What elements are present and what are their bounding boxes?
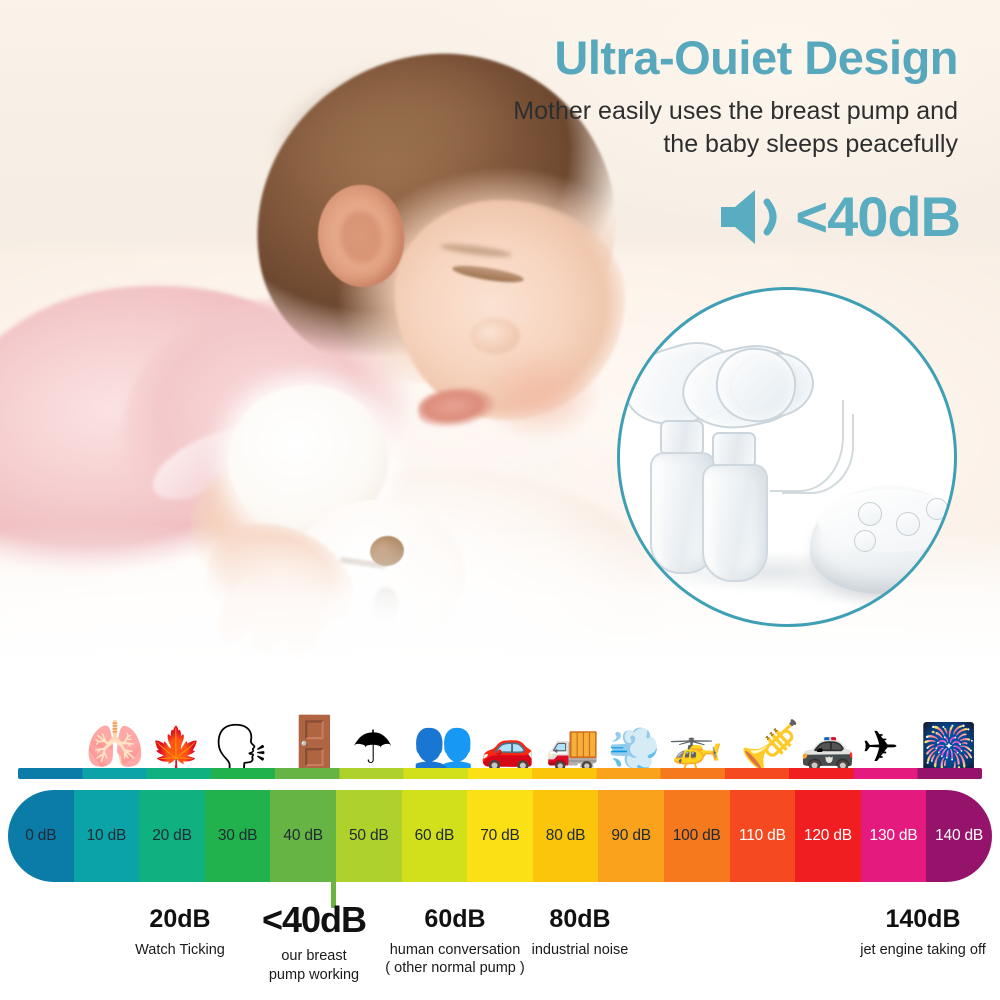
annotation-description: jet engine taking off [813, 941, 1000, 960]
trumpet-player-icon: 🎺 [740, 722, 800, 770]
baby-nose [470, 318, 520, 354]
page-subtitle: Mother easily uses the breast pump and t… [438, 95, 958, 161]
scale-segment: 20 dB [139, 790, 205, 882]
scale-segment: 30 dB [205, 790, 271, 882]
scale-segment: 50 dB [336, 790, 402, 882]
bottle-neck-right [712, 432, 756, 468]
car-icon: 🚗 [480, 726, 535, 770]
annotation-value: 140dB [813, 905, 1000, 934]
baby-cheek [480, 350, 600, 440]
jet-icon: ✈ [862, 726, 899, 770]
umbrella-rain-icon: ☂ [352, 724, 393, 770]
truck-icon: 🚚 [545, 726, 600, 770]
fireworks-icon: 🎆 [920, 724, 977, 770]
scale-annotation: 80dBindustrial noise [470, 905, 690, 959]
whispering-people-icon: 🗣 [212, 724, 270, 770]
scale-segment: 70 dB [467, 790, 533, 882]
noise-level-badge: <40dB [717, 186, 960, 248]
scale-segment: 80 dB [533, 790, 599, 882]
conversation-people-icon: 👥 [412, 720, 474, 770]
subtitle-line-1: Mother easily uses the breast pump and [438, 95, 958, 128]
scale-segment: 0 dB [8, 790, 74, 882]
hair-dryer-icon: 💨 [608, 728, 660, 770]
scale-annotation: 140dBjet engine taking off [813, 905, 1000, 959]
scale-annotations: 20dBWatch Ticking<40dBour breastpump wor… [0, 905, 1000, 1000]
noise-scale-bar: 0 dB10 dB20 dB30 dB40 dB50 dB60 dB70 dB8… [8, 790, 992, 882]
bottle-right [702, 464, 768, 582]
refrigerator-icon: 🚪 [282, 718, 347, 770]
speaker-icon [717, 186, 789, 248]
badge-value: <40dB [795, 189, 960, 245]
scale-segment: 90 dB [598, 790, 664, 882]
subtitle-line-2: the baby sleeps peacefully [438, 128, 958, 161]
scale-segment: 100 dB [664, 790, 730, 882]
scale-segment: 140 dB [926, 790, 992, 882]
page-title: Ultra-Ouiet Design [554, 34, 958, 81]
pump-motor-unit [810, 486, 957, 594]
scale-segment: 130 dB [861, 790, 927, 882]
helicopter-icon: 🚁 [668, 726, 723, 770]
product-inset [617, 287, 957, 627]
decrease-button[interactable] [854, 530, 876, 552]
mode-button[interactable] [896, 512, 920, 536]
noise-source-icons: 🫁 🍁 🗣 🚪 ☂ 👥 🚗 🚚 💨 🚁 🎺 🚓 ✈ 🎆 [0, 660, 1000, 770]
increase-button[interactable] [926, 498, 948, 520]
annotation-description-line-2: ( other normal pump ) [345, 959, 565, 978]
annotation-description: industrial noise [470, 941, 690, 960]
tube-lower [782, 414, 854, 494]
scale-segment: 40 dB [270, 790, 336, 882]
police-car-icon: 🚓 [800, 726, 855, 770]
scale-segment: 60 dB [402, 790, 468, 882]
scale-segment: 10 dB [74, 790, 140, 882]
scale-segment: 110 dB [730, 790, 796, 882]
scale-segment: 120 dB [795, 790, 861, 882]
scale-accent-line [18, 768, 982, 779]
power-button[interactable] [858, 502, 882, 526]
annotation-value: 80dB [470, 905, 690, 934]
product-infographic: Ultra-Ouiet Design Mother easily uses th… [0, 0, 1000, 1000]
leaves-icon: 🍁 [150, 728, 202, 770]
lungs-icon: 🫁 [85, 722, 145, 770]
bottle-neck-left [660, 420, 704, 456]
